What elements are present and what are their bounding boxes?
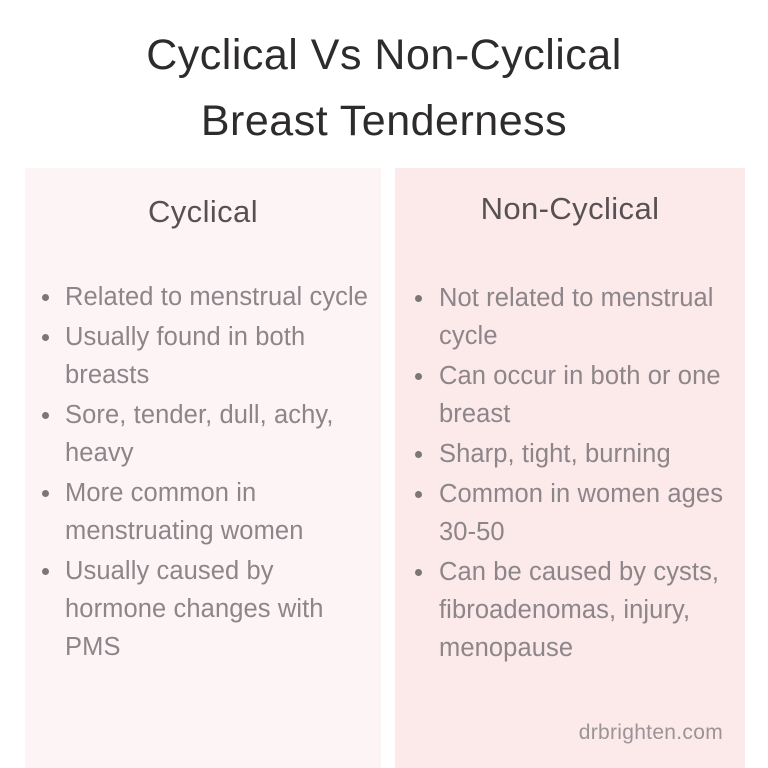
column-cyclical: Cyclical Related to menstrual cycle Usua… — [25, 168, 381, 768]
list-item: Not related to menstrual cycle — [415, 279, 745, 355]
list-item: Sore, tender, dull, achy, heavy — [42, 396, 381, 472]
title-line-2: Breast Tenderness — [0, 88, 768, 154]
list-item: Usually caused by hormone changes with P… — [42, 552, 381, 666]
list-item: Usually found in both breasts — [42, 318, 381, 394]
bullet-list-cyclical: Related to menstrual cycle Usually found… — [25, 278, 381, 666]
column-header-cyclical: Cyclical — [25, 194, 381, 230]
list-item: Related to menstrual cycle — [42, 278, 381, 316]
list-item: Can be caused by cysts, fibroadenomas, i… — [415, 553, 745, 667]
list-item: Sharp, tight, burning — [415, 435, 745, 473]
title-line-1: Cyclical Vs Non-Cyclical — [0, 22, 768, 88]
bullet-list-non-cyclical: Not related to menstrual cycle Can occur… — [395, 279, 745, 667]
list-item: Common in women ages 30-50 — [415, 475, 745, 551]
column-non-cyclical: Non-Cyclical Not related to menstrual cy… — [395, 168, 745, 768]
comparison-panels: Cyclical Related to menstrual cycle Usua… — [0, 168, 768, 768]
infographic-canvas: Cyclical Vs Non-Cyclical Breast Tenderne… — [0, 0, 768, 768]
column-header-non-cyclical: Non-Cyclical — [395, 191, 745, 227]
site-credit: drbrighten.com — [579, 720, 723, 746]
list-item: More common in menstruating women — [42, 474, 381, 550]
page-title: Cyclical Vs Non-Cyclical Breast Tenderne… — [0, 22, 768, 154]
list-item: Can occur in both or one breast — [415, 357, 745, 433]
